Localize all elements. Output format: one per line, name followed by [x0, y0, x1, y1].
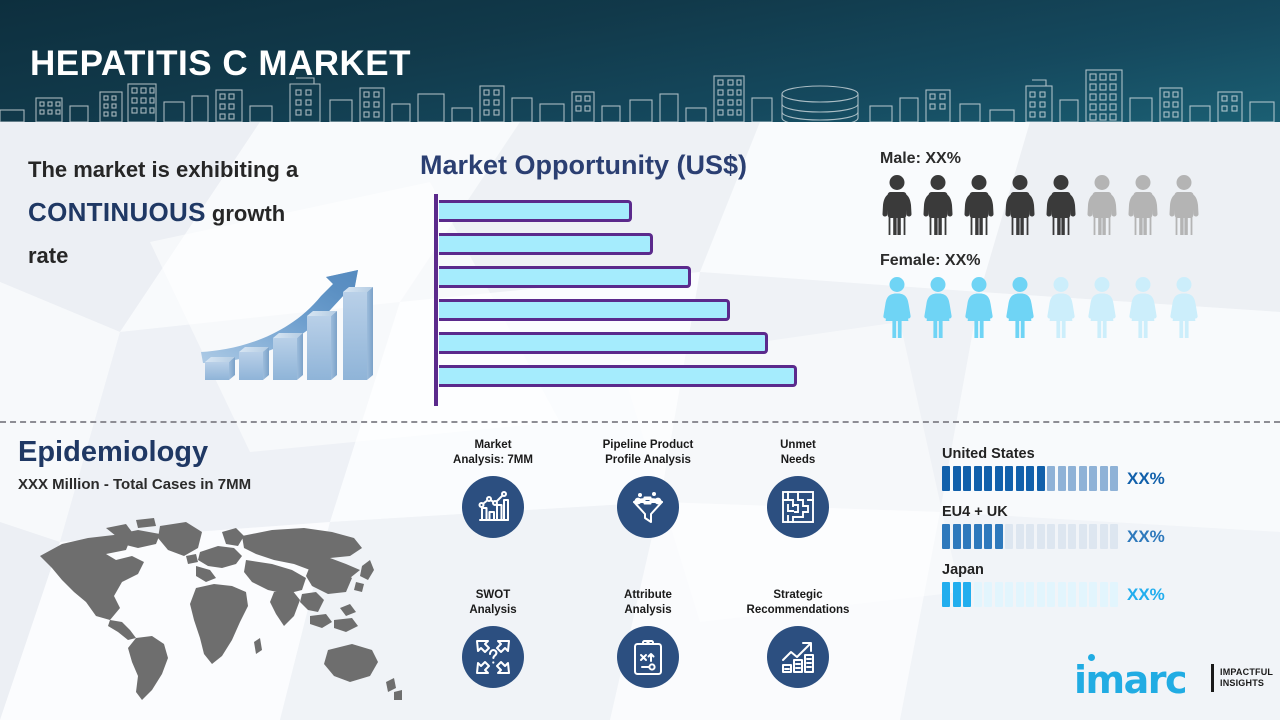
region-segment	[1026, 582, 1034, 607]
region-segment	[1068, 582, 1076, 607]
region-segment-track	[942, 582, 1118, 607]
region-segment	[1110, 466, 1118, 491]
region-segment	[1110, 582, 1118, 607]
region-segment	[1100, 582, 1108, 607]
region-segment	[1047, 524, 1055, 549]
region-breakdown: United StatesXX%EU4 + UKXX%JapanXX%	[942, 446, 1272, 666]
page-title: HEPATITIS C MARKET	[30, 44, 411, 84]
region-segment	[974, 466, 982, 491]
market-opportunity-title: Market Opportunity (US$)	[420, 150, 747, 181]
swot-arrows-question-icon[interactable]	[462, 626, 524, 688]
region-segment	[1005, 466, 1013, 491]
region-segment	[1005, 524, 1013, 549]
intro-highlight: CONTINUOUS	[28, 197, 206, 227]
topic-caption: AttributeAnalysis	[573, 588, 723, 620]
intro-line3: rate	[28, 243, 68, 268]
topic-caption: SWOTAnalysis	[418, 588, 568, 620]
chart-bar	[439, 365, 797, 387]
male-person-icon	[921, 174, 955, 236]
logo-tagline-line1: IMPACTFUL	[1220, 667, 1273, 677]
page-header: HEPATITIS C MARKET	[0, 0, 1280, 122]
topic-caption-line1: Strategic	[773, 589, 822, 601]
region-segment	[984, 524, 992, 549]
region-segment	[942, 466, 950, 491]
region-segment	[1100, 524, 1108, 549]
female-person-icon	[880, 276, 914, 338]
region-segment	[1047, 582, 1055, 607]
region-segment	[1089, 466, 1097, 491]
region-row: EU4 + UKXX%	[942, 504, 1272, 549]
bar-chart-line-icon[interactable]	[462, 476, 524, 538]
chart-bar	[439, 266, 691, 288]
topic-caption: StrategicRecommendations	[723, 588, 873, 620]
section-divider	[0, 421, 1280, 423]
region-segment	[1068, 466, 1076, 491]
topic-caption-line1: Pipeline Product	[603, 439, 694, 451]
male-person-icon	[962, 174, 996, 236]
region-name: EU4 + UK	[942, 504, 1272, 520]
region-segment	[1037, 582, 1045, 607]
region-segment	[1005, 582, 1013, 607]
region-segment	[974, 582, 982, 607]
region-segment	[1089, 582, 1097, 607]
region-segment	[995, 582, 1003, 607]
region-segment	[984, 466, 992, 491]
region-segment	[953, 582, 961, 607]
chart-bar	[439, 332, 768, 354]
region-segment	[984, 582, 992, 607]
region-segment	[995, 524, 1003, 549]
logo-wordmark: imarc	[1074, 658, 1186, 702]
topic-caption-line2: Analysis	[469, 604, 516, 616]
topic-caption-line2: Analysis: 7MM	[453, 454, 533, 466]
female-person-icon	[1126, 276, 1160, 338]
region-segment	[1016, 524, 1024, 549]
region-percent: XX%	[1127, 469, 1165, 489]
epidemiology-title: Epidemiology	[18, 436, 208, 469]
topic-caption-line1: Attribute	[624, 589, 672, 601]
topic-caption: MarketAnalysis: 7MM	[418, 438, 568, 470]
logo-separator	[1211, 664, 1214, 692]
topic-growth-chart-arrow[interactable]: StrategicRecommendations	[723, 588, 873, 688]
topic-caption: UnmetNeeds	[723, 438, 873, 470]
region-segment-track	[942, 524, 1118, 549]
region-segment	[995, 466, 1003, 491]
region-segment	[1037, 466, 1045, 491]
female-person-icon	[1044, 276, 1078, 338]
male-person-icon	[1126, 174, 1160, 236]
region-name: Japan	[942, 562, 1272, 578]
female-person-icon	[1003, 276, 1037, 338]
region-percent: XX%	[1127, 527, 1165, 547]
region-segment	[1079, 582, 1087, 607]
epidemiology-subtitle: XXX Million - Total Cases in 7MM	[18, 476, 251, 493]
region-segment	[942, 524, 950, 549]
region-percent: XX%	[1127, 585, 1165, 605]
chart-bar	[439, 233, 653, 255]
male-person-icon	[1167, 174, 1201, 236]
funnel-icon[interactable]	[617, 476, 679, 538]
male-person-icon	[1044, 174, 1078, 236]
analysis-topics-grid: MarketAnalysis: 7MMPipeline ProductProfi…	[418, 438, 878, 713]
female-person-icon	[962, 276, 996, 338]
region-row: United StatesXX%	[942, 446, 1272, 491]
region-segment	[953, 524, 961, 549]
topic-funnel[interactable]: Pipeline ProductProfile Analysis	[573, 438, 723, 538]
male-pictogram-row	[880, 174, 1272, 236]
male-label: Male: XX%	[880, 150, 1272, 168]
topic-caption-line2: Analysis	[624, 604, 671, 616]
clipboard-strategy-icon[interactable]	[617, 626, 679, 688]
topic-caption-line2: Needs	[781, 454, 816, 466]
region-segment	[1026, 466, 1034, 491]
region-segment	[1016, 466, 1024, 491]
region-name: United States	[942, 446, 1272, 462]
topic-caption-line1: SWOT	[476, 589, 511, 601]
female-pictogram-row	[880, 276, 1272, 338]
chart-bar	[439, 200, 632, 222]
region-segment	[963, 524, 971, 549]
region-segment-track	[942, 466, 1118, 491]
female-label: Female: XX%	[880, 252, 1272, 270]
topic-maze[interactable]: UnmetNeeds	[723, 438, 873, 538]
topic-clipboard-strategy[interactable]: AttributeAnalysis	[573, 588, 723, 688]
region-segment	[963, 466, 971, 491]
topic-caption-line1: Market	[474, 439, 511, 451]
region-segment	[974, 524, 982, 549]
intro-line1: The market is exhibiting a	[28, 157, 298, 182]
female-person-icon	[1085, 276, 1119, 338]
region-segment	[1058, 582, 1066, 607]
maze-icon[interactable]	[767, 476, 829, 538]
male-person-icon	[880, 174, 914, 236]
region-segment	[1047, 466, 1055, 491]
region-segment	[1037, 524, 1045, 549]
market-opportunity-chart	[434, 194, 834, 414]
infographic-page: HEPATITIS C MARKET The market is exhibit…	[0, 0, 1280, 720]
region-segment	[1110, 524, 1118, 549]
growth-chart-arrow-icon[interactable]	[767, 626, 829, 688]
region-segment	[963, 582, 971, 607]
region-segment	[1026, 524, 1034, 549]
logo-tagline: IMPACTFUL INSIGHTS	[1220, 667, 1273, 689]
region-segment	[1079, 524, 1087, 549]
female-person-icon	[921, 276, 955, 338]
topic-caption-line2: Profile Analysis	[605, 454, 691, 466]
topic-caption: Pipeline ProductProfile Analysis	[573, 438, 723, 470]
region-segment	[1058, 466, 1066, 491]
region-segment	[1100, 466, 1108, 491]
region-segment	[942, 582, 950, 607]
region-segment	[1016, 582, 1024, 607]
region-segment	[1089, 524, 1097, 549]
logo-tagline-line2: INSIGHTS	[1220, 678, 1264, 688]
topic-caption-line1: Unmet	[780, 439, 816, 451]
chart-bar	[439, 299, 730, 321]
world-map-icon	[10, 504, 410, 709]
topic-caption-line2: Recommendations	[747, 604, 850, 616]
top-band: The market is exhibiting a CONTINUOUS gr…	[0, 122, 1280, 422]
gender-split: Male: XX% Female: XX%	[880, 150, 1272, 405]
growth-bar-arrow-icon	[195, 246, 390, 386]
region-row: JapanXX%	[942, 562, 1272, 607]
region-segment	[953, 466, 961, 491]
male-person-icon	[1085, 174, 1119, 236]
chart-axis	[434, 194, 438, 406]
intro-line2: growth	[212, 201, 285, 226]
region-segment	[1079, 466, 1087, 491]
imarc-logo: imarc IMPACTFUL INSIGHTS	[1074, 654, 1264, 700]
topic-swot-arrows-question[interactable]: SWOTAnalysis	[418, 588, 568, 688]
male-person-icon	[1003, 174, 1037, 236]
female-person-icon	[1167, 276, 1201, 338]
topic-bar-chart-line[interactable]: MarketAnalysis: 7MM	[418, 438, 568, 538]
region-segment	[1068, 524, 1076, 549]
region-segment	[1058, 524, 1066, 549]
